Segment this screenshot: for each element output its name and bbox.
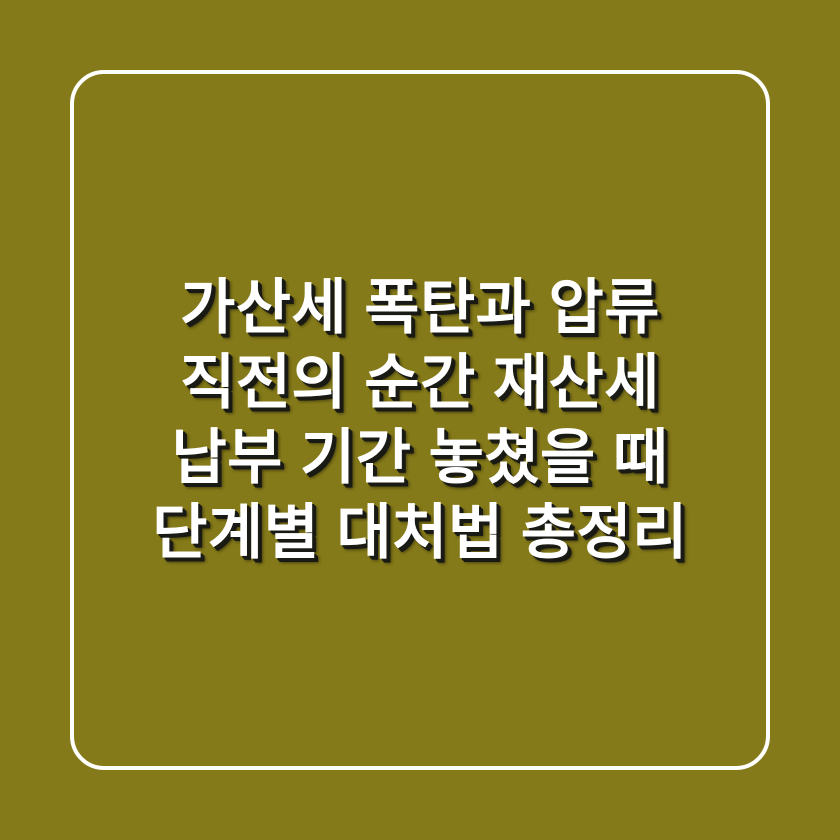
headline-line-2: 직전의 순간 재산세 — [0, 345, 840, 420]
headline-block: 가산세 폭탄과 압류 직전의 순간 재산세 납부 기간 놓쳤을 때 단계별 대처… — [0, 0, 840, 840]
headline-line-1: 가산세 폭탄과 압류 — [0, 270, 840, 345]
headline-line-4: 단계별 대처법 총정리 — [0, 495, 840, 570]
headline-line-3: 납부 기간 놓쳤을 때 — [0, 420, 840, 495]
thumbnail-card: 가산세 폭탄과 압류 직전의 순간 재산세 납부 기간 놓쳤을 때 단계별 대처… — [0, 0, 840, 840]
